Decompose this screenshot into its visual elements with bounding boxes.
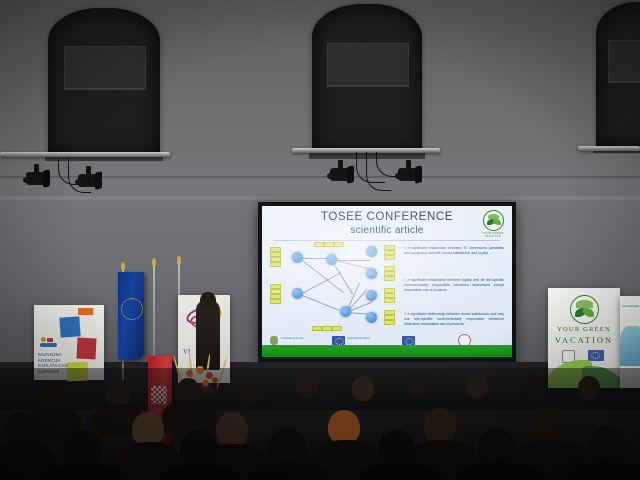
audience-shoulders bbox=[44, 464, 124, 480]
eu-flag-icon bbox=[402, 336, 415, 345]
audience-head bbox=[578, 376, 600, 400]
banner-title-line1: YOUR GREEN bbox=[548, 326, 620, 333]
path-edge bbox=[300, 258, 344, 293]
latent-node bbox=[366, 246, 377, 257]
banner-eu-flag-icon bbox=[588, 350, 604, 361]
window-mullion bbox=[327, 85, 406, 86]
audience-head bbox=[424, 408, 456, 443]
your-green-vacation-logo-icon: YOUR GREEN VACATION bbox=[480, 210, 506, 235]
green-vacation-logo-icon bbox=[570, 295, 599, 324]
conference-photo: TOSEE CONFERENCE scientific article YOUR… bbox=[0, 0, 640, 480]
lamp-barndoor bbox=[43, 169, 50, 187]
slide-divider bbox=[274, 240, 500, 241]
lamp-barndoor bbox=[347, 165, 354, 183]
indicator-box bbox=[334, 242, 344, 247]
indicator-box bbox=[384, 255, 395, 260]
lamp-cable bbox=[68, 158, 91, 193]
slide-subtitle: scientific article bbox=[262, 225, 512, 236]
indicator-box bbox=[384, 298, 395, 303]
stage-light bbox=[398, 160, 420, 186]
stage-light bbox=[330, 160, 352, 186]
slide-title: TOSEE CONFERENCE bbox=[262, 211, 512, 223]
audience-shoulders bbox=[162, 401, 216, 433]
window-mullion bbox=[64, 88, 145, 89]
poster-square-red bbox=[76, 338, 96, 360]
lamp-knob bbox=[23, 177, 29, 183]
arched-window bbox=[312, 4, 422, 154]
poster-square-blue bbox=[59, 316, 80, 337]
poster-square-orange bbox=[78, 308, 93, 315]
stage-light bbox=[26, 164, 48, 190]
audience bbox=[0, 368, 640, 480]
banner-title-line2: VACATION bbox=[548, 335, 620, 345]
flag-finial bbox=[121, 262, 125, 270]
audience-head-blonde bbox=[132, 412, 164, 446]
partner-caption: Co-funded by the EU bbox=[281, 337, 315, 340]
lamp-barndoor bbox=[415, 165, 422, 183]
emblem-block bbox=[47, 338, 53, 342]
logo-hill bbox=[576, 300, 593, 308]
audience-head bbox=[352, 376, 374, 401]
audience-head bbox=[532, 408, 564, 444]
audience-head bbox=[216, 412, 248, 448]
audience-head-red bbox=[328, 410, 360, 444]
window-mullion bbox=[608, 81, 640, 82]
logo-leaf-right bbox=[583, 308, 594, 317]
latent-node bbox=[366, 268, 377, 279]
wave-graphic-icon bbox=[620, 326, 640, 366]
banner-partner-logo-icon bbox=[562, 350, 575, 361]
indicator-box bbox=[312, 326, 322, 331]
indicator-box bbox=[314, 242, 324, 247]
logo-leaf-right bbox=[493, 219, 501, 225]
audience-head bbox=[522, 374, 544, 399]
latent-node bbox=[366, 312, 377, 323]
emblem-sun bbox=[41, 337, 46, 342]
agency-emblem-icon bbox=[39, 337, 61, 350]
path-edge bbox=[300, 272, 341, 294]
eu-caption: EUROPEAN UNION bbox=[348, 337, 380, 340]
banner-heading: visit karlovac bbox=[622, 304, 639, 308]
slide-bullet: a significant relationship between touri… bbox=[404, 312, 504, 327]
indicator-box bbox=[270, 299, 281, 304]
audience-head bbox=[466, 374, 488, 398]
slide-bullet: a significant relationship between TE di… bbox=[404, 246, 504, 256]
latent-node bbox=[292, 288, 303, 299]
slide-green-accent-bar bbox=[262, 345, 512, 357]
indicator-box bbox=[384, 276, 395, 281]
latent-node bbox=[292, 252, 303, 263]
window-pane bbox=[327, 43, 408, 87]
path-edge bbox=[300, 294, 339, 310]
audience-head bbox=[296, 374, 318, 398]
lamp-barndoor bbox=[95, 171, 102, 189]
partner-logo-icon bbox=[270, 336, 278, 345]
audience-head bbox=[238, 376, 262, 402]
window-pane bbox=[64, 46, 147, 89]
lighting-rail bbox=[0, 152, 170, 157]
path-edge bbox=[331, 260, 353, 294]
wall-trim-band bbox=[0, 196, 640, 200]
lighting-rail bbox=[578, 146, 640, 151]
indicator-box bbox=[384, 320, 395, 325]
flag-finial bbox=[177, 256, 181, 264]
projection-screen: TOSEE CONFERENCE scientific article YOUR… bbox=[262, 206, 512, 354]
window-pane bbox=[608, 40, 640, 83]
arched-window bbox=[48, 8, 160, 156]
indicator-box bbox=[324, 242, 334, 247]
latent-node bbox=[366, 290, 377, 301]
latent-node bbox=[340, 306, 351, 317]
indicator-box bbox=[270, 262, 281, 267]
presentation-slide: TOSEE CONFERENCE scientific article YOUR… bbox=[262, 206, 512, 354]
latent-node bbox=[326, 254, 337, 265]
european-union-flag bbox=[118, 272, 144, 360]
logo-text-line2: VACATION bbox=[480, 235, 506, 238]
indicator-box bbox=[322, 326, 332, 331]
eu-flag-icon bbox=[332, 336, 345, 345]
flag-finial bbox=[152, 258, 156, 266]
emblem-river bbox=[40, 343, 57, 347]
path-edge bbox=[300, 258, 328, 259]
logo-ring bbox=[483, 210, 504, 231]
audience-head bbox=[408, 372, 430, 396]
lamp-knob bbox=[327, 173, 333, 179]
eu-stars-icon bbox=[121, 298, 143, 320]
speaker-head bbox=[200, 292, 216, 309]
arched-window bbox=[596, 2, 640, 148]
slide-bullet: a significant relationship between loyal… bbox=[404, 278, 504, 293]
path-diagram bbox=[270, 242, 396, 334]
indicator-box bbox=[332, 326, 342, 331]
